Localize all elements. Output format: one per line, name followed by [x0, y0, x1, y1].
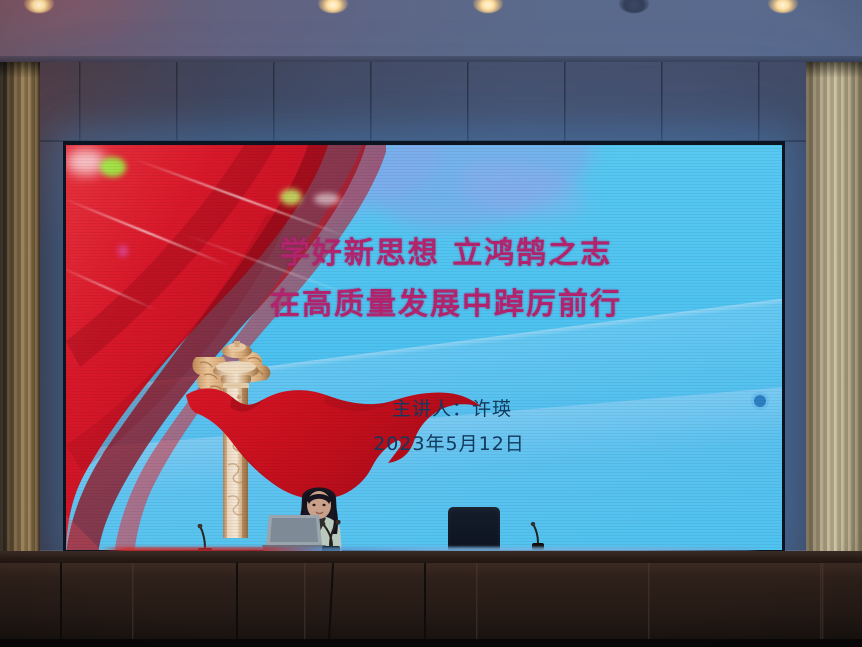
floor-shadow-band: [0, 639, 862, 647]
curtain-right: [806, 62, 862, 562]
slide-date-line: 2023年5月12日: [66, 429, 782, 456]
curtain-left: [0, 62, 40, 562]
downlight-1-icon: [24, 0, 54, 13]
power-cable: [236, 563, 238, 647]
blue-logo-dot-icon: [754, 395, 766, 407]
led-screen-display: 学好新思想 立鸿鹄之志 在高质量发展中踔厉前行 主讲人：许瑛 2023年5月12…: [66, 145, 782, 550]
curtain-top-shadow: [0, 62, 40, 78]
slide-title-line-2: 在高质量发展中踔厉前行: [66, 279, 782, 323]
slide-text-block: 学好新思想 立鸿鹄之志 在高质量发展中踔厉前行 主讲人：许瑛 2023年5月12…: [66, 145, 782, 550]
power-cable: [424, 563, 426, 647]
slide-title-line-1: 学好新思想 立鸿鹄之志: [66, 228, 782, 272]
downlight-4-icon: [619, 0, 649, 13]
podium-desk-front: [0, 563, 862, 647]
ceiling: [0, 0, 862, 68]
downlight-5-icon: [768, 0, 798, 13]
slide-presenter-line: 主讲人：许瑛: [66, 394, 782, 421]
conference-hall-photo: 学好新思想 立鸿鹄之志 在高质量发展中踔厉前行 主讲人：许瑛 2023年5月12…: [0, 0, 862, 647]
power-cable: [60, 563, 62, 647]
podium-panel-seams: [0, 563, 862, 647]
led-screen-bezel: 学好新思想 立鸿鹄之志 在高质量发展中踔厉前行 主讲人：许瑛 2023年5月12…: [63, 141, 785, 553]
downlight-2-icon: [318, 0, 348, 13]
downlight-3-icon: [473, 0, 503, 13]
curtain-top-shadow: [806, 62, 862, 78]
